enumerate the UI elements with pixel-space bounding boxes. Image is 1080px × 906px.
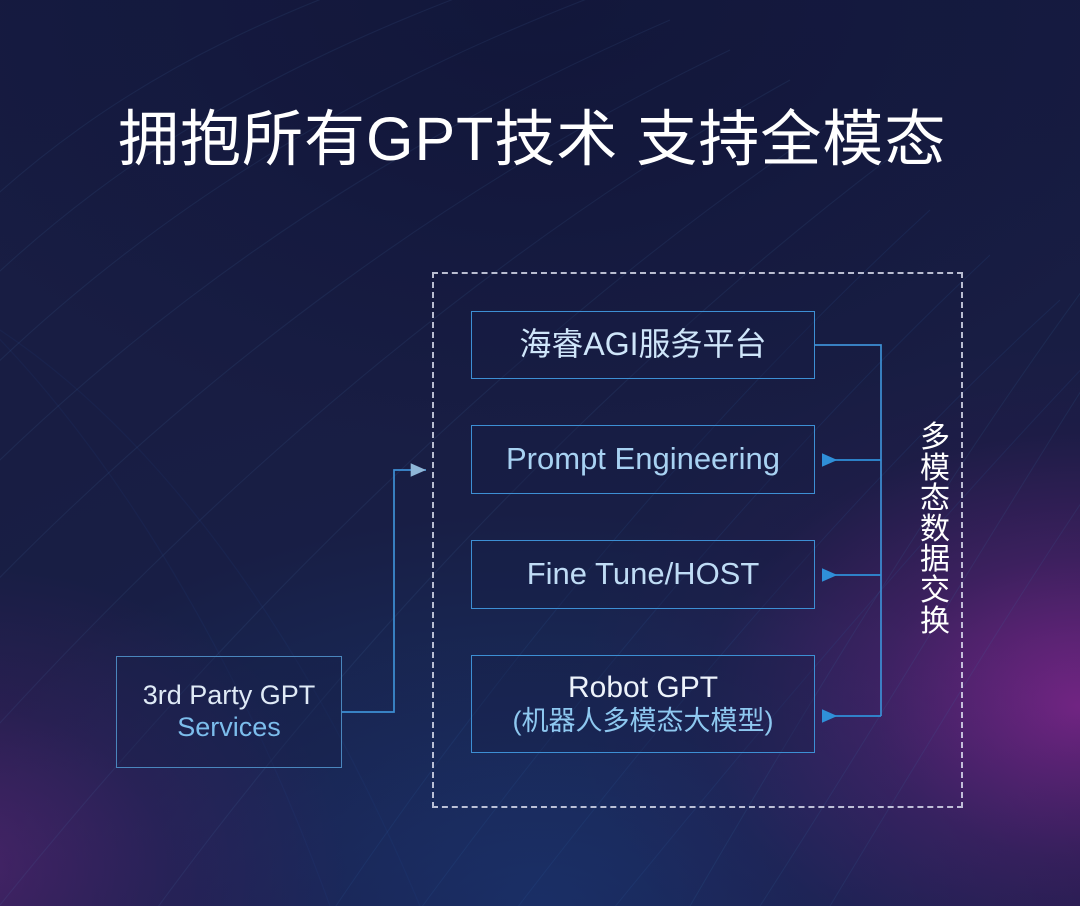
- box-prompt-engineering-label: Prompt Engineering: [506, 441, 780, 478]
- slide-canvas: 拥抱所有GPT技术 支持全模态 海睿AGI服务平台 Prompt Enginee…: [0, 0, 1080, 906]
- box-agi-platform[interactable]: 海睿AGI服务平台: [471, 311, 815, 379]
- box-robot-gpt-sublabel: (机器人多模态大模型): [513, 706, 774, 738]
- vertical-label-char: 数: [915, 515, 955, 546]
- box-third-party-gpt-label: 3rd Party GPT: [143, 680, 316, 712]
- vertical-label-char: 多: [915, 423, 955, 454]
- page-title: 拥抱所有GPT技术 支持全模态: [118, 104, 946, 174]
- box-robot-gpt[interactable]: Robot GPT (机器人多模态大模型): [471, 655, 815, 753]
- vertical-label-char: 交: [915, 576, 955, 607]
- box-third-party-gpt[interactable]: 3rd Party GPT Services: [116, 656, 342, 768]
- box-agi-platform-label: 海睿AGI服务平台: [519, 326, 766, 364]
- box-fine-tune-host[interactable]: Fine Tune/HOST: [471, 540, 815, 609]
- vertical-label-char: 据: [915, 545, 955, 576]
- box-third-party-gpt-sublabel: Services: [177, 712, 281, 744]
- vertical-label-char: 模: [915, 454, 955, 485]
- box-robot-gpt-label: Robot GPT: [568, 670, 718, 705]
- vertical-label-char: 态: [915, 484, 955, 515]
- box-prompt-engineering[interactable]: Prompt Engineering: [471, 425, 815, 494]
- vertical-label-char: 换: [915, 607, 955, 638]
- vertical-label-multimodal-data-exchange: 多 模 态 数 据 交 换: [915, 423, 955, 637]
- box-fine-tune-host-label: Fine Tune/HOST: [527, 556, 760, 593]
